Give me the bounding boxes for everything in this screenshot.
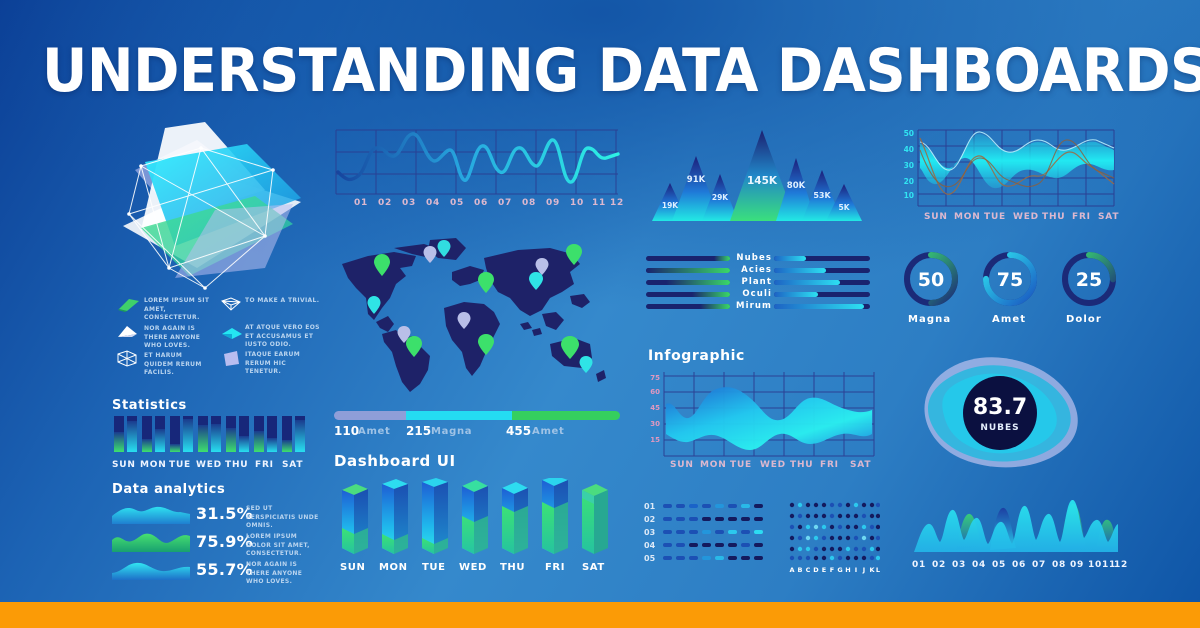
svg-text:02: 02: [644, 515, 655, 524]
svg-text:04: 04: [644, 541, 656, 550]
svg-text:15: 15: [650, 436, 660, 444]
svg-text:G: G: [837, 566, 842, 574]
legend-item-label: Nor again is there anyone who loves.: [144, 325, 210, 351]
blob-kpi-panel: 83.7 NUBES: [906, 352, 1106, 474]
dash-matrix-panel: 010203 0405: [644, 500, 768, 574]
data-analytics-title: Data analytics: [112, 482, 322, 497]
svg-text:F: F: [830, 566, 834, 574]
segment-value: 110: [334, 424, 359, 438]
top-line-chart: 01 02 03 04 05 06 07 08 09 10 11 12: [334, 128, 620, 213]
analytics-value: 55.7%: [196, 560, 253, 579]
weekly-wave-plot: 50 40 30 20 10: [896, 128, 1116, 210]
dot-matrix-chart: AB CD EF GH IJ KL: [788, 500, 880, 574]
statistics-bars-chart: [112, 416, 308, 462]
kpi-value: 83.7: [973, 395, 1027, 420]
segment-label: Magna: [431, 426, 472, 437]
svg-text:5K: 5K: [838, 203, 850, 212]
footer-bar: [0, 602, 1200, 628]
green-parallelogram-icon: [115, 297, 141, 313]
svg-text:C: C: [806, 566, 811, 574]
svg-text:10: 10: [904, 191, 914, 200]
legend-item-label: Et harum quidem rerum facilis.: [144, 352, 210, 378]
infographic-panel: Infographic 15 30 45 60 75 SUN: [648, 348, 876, 474]
segment-label: Amet: [532, 426, 565, 437]
svg-text:D: D: [813, 566, 819, 574]
gauge-value: 75: [997, 269, 1023, 291]
analytics-label: Lorem ipsum dolor sit amet, consectetur.: [246, 533, 322, 559]
dashboard-ui-3d-bars: [334, 478, 624, 560]
statistics-title: Statistics: [112, 398, 312, 413]
page-title: UNDERSTANDING DATA DASHBOARDS: [42, 36, 1158, 106]
data-analytics-panel: Data analytics 31.5% Sed ut perspiciatis…: [112, 482, 322, 574]
svg-text:L: L: [876, 566, 880, 574]
blob-kpi-chart: 83.7 NUBES: [906, 352, 1106, 474]
svg-text:80K: 80K: [787, 181, 806, 191]
sparkline-area-2: [112, 530, 190, 552]
diverging-bars-labels: Nubes Acies Plant Oculi Mirum: [736, 252, 772, 312]
sparkline-area-3: [112, 558, 190, 580]
svg-text:I: I: [855, 566, 857, 574]
svg-text:53K: 53K: [813, 191, 831, 200]
svg-text:K: K: [869, 566, 875, 574]
sparkline-area-1: [112, 502, 190, 524]
analytics-value: 75.9%: [196, 532, 253, 551]
svg-text:A: A: [789, 566, 794, 574]
svg-text:29K: 29K: [712, 193, 729, 202]
dash-matrix-chart: 010203 0405: [644, 500, 768, 574]
svg-text:91K: 91K: [687, 175, 706, 185]
analytics-row[interactable]: 55.7% Nor again is there anyone who love…: [112, 558, 322, 580]
cyan-pyramid-icon: [219, 325, 245, 341]
infographic-area-plot: 15 30 45 60 75: [648, 370, 876, 458]
svg-text:30: 30: [904, 161, 914, 170]
wireframe-cube-icon: [114, 350, 140, 368]
legend-block: Lorem ipsum sit amet, consectetur. To ma…: [112, 296, 322, 374]
svg-text:75: 75: [650, 374, 660, 382]
wireframe-diamond-icon: [219, 296, 243, 314]
analytics-label: Nor again is there anyone who loves.: [246, 561, 322, 587]
kpi-unit: NUBES: [980, 423, 1019, 433]
svg-text:J: J: [862, 566, 865, 574]
dot-matrix-panel: AB CD EF GH IJ KL: [788, 500, 880, 574]
legend-item-label: At atque vero eos et accusamus et iusto …: [245, 324, 323, 350]
infographic-canvas: UNDERSTANDING DATA DASHBOARDS: [0, 0, 1200, 628]
progress-bar-panel[interactable]: 110 Amet 215 Magna 455 Amet: [334, 408, 620, 446]
legend-item-label: Itaque earum rerum hic tenetur.: [245, 351, 321, 377]
dashboard-ui-title: Dashboard UI: [334, 452, 624, 470]
mountain-chart: 19K 91K 29K 145K 80K 53K 5K: [644, 126, 870, 226]
abstract-polygon-graphic: [105, 118, 320, 293]
diverging-bars-panel: Nubes Acies Plant Oculi Mirum: [644, 252, 874, 324]
svg-text:B: B: [798, 566, 803, 574]
svg-text:45: 45: [650, 404, 660, 412]
svg-text:05: 05: [644, 554, 656, 563]
legend-item-label: To make a trivial.: [245, 297, 321, 306]
svg-text:20: 20: [904, 177, 914, 186]
weekly-wave-chart: 50 40 30 20 10 SUN MON TUE WED THU FRI S…: [896, 128, 1116, 228]
svg-text:40: 40: [904, 145, 914, 154]
line-chart-plot: [334, 128, 620, 196]
gauge-value: 25: [1076, 269, 1102, 291]
lavender-shard-icon: [219, 350, 245, 368]
svg-text:H: H: [845, 566, 850, 574]
gauges-panel: 50 75 25 Magna Amet Dolor: [900, 248, 1120, 326]
analytics-row[interactable]: 31.5% Sed ut perspiciatis unde omnis.: [112, 502, 322, 524]
spiky-area-chart: [900, 500, 1120, 558]
svg-text:03: 03: [644, 528, 655, 537]
progress-bar[interactable]: [334, 411, 620, 421]
analytics-value: 31.5%: [196, 504, 253, 523]
dashboard-ui-panel: Dashboard UI: [334, 452, 624, 574]
svg-text:145K: 145K: [747, 175, 778, 187]
segment-value: 455: [506, 424, 531, 438]
segment-value: 215: [406, 424, 431, 438]
legend-item-label: Lorem ipsum sit amet, consectetur.: [144, 297, 210, 323]
gauge-ring-set: 50 75 25: [900, 248, 1120, 310]
analytics-row[interactable]: 75.9% Lorem ipsum dolor sit amet, consec…: [112, 530, 322, 552]
world-map[interactable]: [334, 236, 626, 402]
svg-text:01: 01: [644, 502, 656, 511]
world-map-plot: [334, 236, 626, 402]
svg-text:50: 50: [904, 129, 914, 138]
infographic-title: Infographic: [648, 348, 876, 364]
svg-text:60: 60: [650, 388, 660, 396]
white-triangle-icon: [114, 324, 140, 340]
statistics-panel: Statistics: [112, 398, 312, 460]
gauge-value: 50: [918, 269, 944, 291]
svg-text:30: 30: [650, 420, 660, 428]
svg-text:E: E: [822, 566, 826, 574]
svg-text:19K: 19K: [662, 201, 679, 210]
segment-label: Amet: [358, 426, 391, 437]
mountain-chart-plot: 19K 91K 29K 145K 80K 53K 5K: [644, 126, 870, 226]
analytics-label: Sed ut perspiciatis unde omnis.: [246, 505, 322, 531]
bottom-spiky-area-panel: 01 02 03 04 05 06 07 08 09 10 11 12: [900, 500, 1120, 574]
